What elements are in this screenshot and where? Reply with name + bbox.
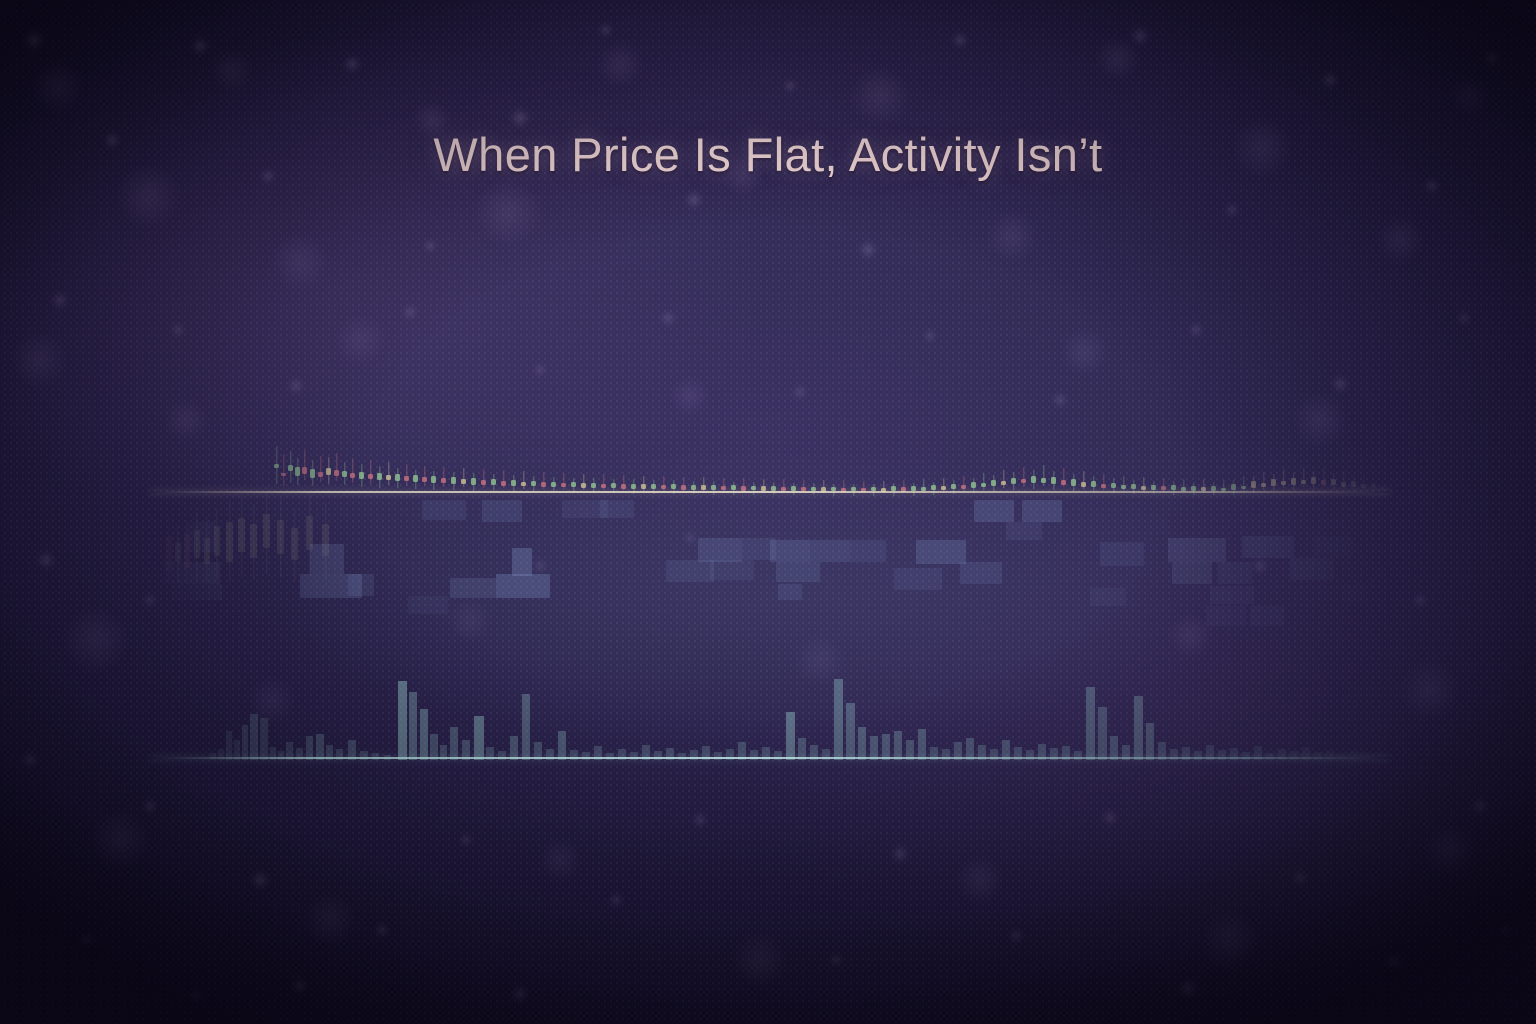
- volume-bar: [1074, 751, 1082, 760]
- candlestick: [801, 432, 806, 498]
- candle-wick: [336, 453, 337, 481]
- candle-body: [931, 485, 936, 490]
- page-title: When Price Is Flat, Activity Isn’t: [0, 127, 1536, 182]
- depth-block: [1206, 606, 1246, 626]
- slide-canvas: When Price Is Flat, Activity Isn’t: [0, 0, 1536, 1024]
- candle-wick: [1003, 470, 1004, 488]
- candlestick: [318, 432, 323, 498]
- depth-block: [974, 500, 1014, 522]
- candle-body: [1081, 482, 1086, 487]
- volume-bar: [558, 731, 566, 760]
- candlestick: [911, 432, 916, 498]
- candle-body: [601, 484, 606, 488]
- candlestick: [395, 432, 400, 498]
- candle-body: [1381, 485, 1386, 489]
- volume-bar: [226, 731, 232, 760]
- candlestick: [1121, 432, 1126, 498]
- candle-body: [1071, 479, 1076, 486]
- candle-body: [941, 486, 946, 490]
- depth-block: [1250, 606, 1284, 626]
- depth-block: [960, 562, 1002, 584]
- candlestick: [1021, 432, 1026, 498]
- volume-bar: [654, 751, 662, 760]
- depth-block: [770, 540, 810, 562]
- candlestick: [881, 432, 886, 498]
- candlestick: [491, 432, 496, 498]
- volume-bar: [1026, 750, 1034, 760]
- candle-body: [501, 481, 506, 486]
- depth-block: [482, 500, 522, 522]
- candle-body: [1241, 486, 1246, 489]
- candlestick: [731, 432, 736, 498]
- candle-body: [691, 485, 696, 490]
- candlestick: [841, 432, 846, 498]
- candlestick: [1011, 432, 1016, 498]
- candlestick: [326, 432, 331, 498]
- candlestick: [1101, 432, 1106, 498]
- depth-block: [1090, 588, 1126, 606]
- candle-body: [1281, 481, 1286, 485]
- candle-wick: [443, 467, 444, 487]
- volume-bar: [834, 679, 843, 760]
- candle-body: [991, 480, 996, 486]
- candle-body: [295, 467, 300, 476]
- candle-body: [1021, 479, 1026, 483]
- depth-block: [1210, 586, 1254, 604]
- candle-body: [350, 473, 355, 478]
- candle-body: [1261, 483, 1266, 487]
- candlestick: [581, 432, 586, 498]
- candlestick: [621, 432, 626, 498]
- candle-body: [671, 484, 676, 489]
- candle-body: [531, 481, 536, 486]
- volume-bar: [398, 681, 407, 760]
- volume-bar: [360, 751, 368, 760]
- candlestick: [481, 432, 486, 498]
- candle-body: [1131, 484, 1136, 489]
- candle-body: [1371, 483, 1376, 488]
- candlestick: [461, 432, 466, 498]
- candlestick: [1051, 432, 1056, 498]
- candlestick: [541, 432, 546, 498]
- candle-body: [1151, 485, 1156, 490]
- depth-block: [1100, 542, 1144, 566]
- candlestick: [961, 432, 966, 498]
- candlestick: [274, 432, 279, 498]
- candle-body: [1111, 483, 1116, 488]
- candle-body: [481, 480, 486, 485]
- candlestick: [422, 432, 427, 498]
- candlestick: [310, 432, 315, 498]
- candlestick: [941, 432, 946, 498]
- volume-bar: [750, 750, 758, 760]
- candlestick: [1231, 432, 1236, 498]
- volume-bar: [918, 729, 926, 760]
- depth-block: [170, 584, 222, 600]
- candlestick: [781, 432, 786, 498]
- candle-wick: [1263, 472, 1264, 490]
- candlestick: [1181, 432, 1186, 498]
- candlestick: [1331, 432, 1336, 498]
- candle-body: [651, 484, 656, 489]
- volume-bar: [774, 751, 782, 760]
- depth-block: [1172, 562, 1212, 584]
- candlestick: [1131, 432, 1136, 498]
- depth-block: [186, 522, 216, 552]
- candlestick: [451, 432, 456, 498]
- candlestick: [1381, 432, 1386, 498]
- candle-body: [641, 484, 646, 489]
- candlestick: [871, 432, 876, 498]
- candlestick: [1291, 432, 1296, 498]
- volume-bar: [894, 731, 902, 760]
- candlestick: [1041, 432, 1046, 498]
- candlestick: [281, 432, 286, 498]
- candle-body: [451, 477, 456, 484]
- candle-body: [1321, 480, 1326, 485]
- candle-body: [1051, 477, 1056, 484]
- candle-body: [511, 480, 516, 486]
- candle-body: [751, 486, 756, 490]
- candlestick: [501, 432, 506, 498]
- depth-block: [408, 596, 448, 614]
- volume-bar: [1218, 750, 1226, 760]
- candlestick: [1351, 432, 1356, 498]
- depth-block: [1006, 522, 1042, 540]
- candle-body: [413, 475, 418, 482]
- volume-bar-chart: [150, 650, 1390, 760]
- depth-block: [450, 578, 496, 598]
- price-baseline: [150, 491, 1390, 493]
- candle-body: [1271, 479, 1276, 486]
- candlestick: [1301, 432, 1306, 498]
- candle-body: [288, 465, 293, 471]
- volume-bar: [242, 725, 248, 760]
- volume-bar: [846, 703, 855, 760]
- candlestick: [771, 432, 776, 498]
- candle-body: [1041, 478, 1046, 483]
- candle-body: [1301, 480, 1306, 484]
- candlestick: [971, 432, 976, 498]
- candle-body: [1141, 486, 1146, 490]
- volume-bar: [250, 714, 258, 760]
- candlestick: [334, 432, 339, 498]
- depth-block: [776, 562, 820, 582]
- candle-body: [1161, 486, 1166, 490]
- candlestick: [561, 432, 566, 498]
- candlestick: [302, 432, 307, 498]
- depth-block: [894, 568, 942, 590]
- candlestick: [751, 432, 756, 498]
- depth-block: [1218, 562, 1252, 584]
- candle-body: [981, 483, 986, 487]
- candle-body: [951, 484, 956, 489]
- depth-block: [310, 544, 344, 574]
- candle-wick: [983, 473, 984, 490]
- candle-wick: [1303, 468, 1304, 487]
- candlestick: [591, 432, 596, 498]
- candlestick: [386, 432, 391, 498]
- candlestick: [521, 432, 526, 498]
- candle-body: [1341, 482, 1346, 487]
- volume-bar: [1326, 750, 1334, 760]
- depth-block: [496, 574, 550, 598]
- candle-wick: [370, 460, 371, 484]
- candle-body: [274, 464, 279, 468]
- candlestick: [721, 432, 726, 498]
- candlestick: [1171, 432, 1176, 498]
- candlestick: [1341, 432, 1346, 498]
- candle-body: [302, 467, 307, 474]
- candlestick: [921, 432, 926, 498]
- volume-bar: [1098, 707, 1107, 760]
- candle-body: [1361, 484, 1366, 488]
- candlestick: [1081, 432, 1086, 498]
- candlestick: [861, 432, 866, 498]
- candle-body: [395, 474, 400, 481]
- depth-block: [162, 562, 220, 584]
- candle-body: [422, 477, 427, 482]
- candle-body: [961, 485, 966, 489]
- candle-body: [711, 485, 716, 490]
- candlestick: [1361, 432, 1366, 498]
- depth-block: [810, 540, 850, 562]
- candle-body: [431, 476, 436, 483]
- candlestick: [1211, 432, 1216, 498]
- volume-bar: [420, 709, 428, 760]
- candlestick: [1281, 432, 1286, 498]
- candle-body: [611, 483, 616, 488]
- candle-body: [1061, 480, 1066, 485]
- volume-bar: [498, 751, 506, 760]
- candle-body: [661, 485, 666, 489]
- candle-body: [359, 472, 364, 479]
- candlestick: [404, 432, 409, 498]
- candle-wick: [1243, 476, 1244, 492]
- candle-body: [342, 471, 347, 477]
- volume-bar: [1146, 723, 1154, 760]
- depth-block: [1022, 500, 1062, 522]
- candlestick: [811, 432, 816, 498]
- price-candlestick-chart: [150, 432, 1390, 498]
- volume-bar: [260, 718, 268, 760]
- candlestick: [1151, 432, 1156, 498]
- candle-body: [1011, 478, 1016, 484]
- candlestick: [741, 432, 746, 498]
- volume-bar: [570, 750, 578, 760]
- candlestick: [761, 432, 766, 498]
- candlestick: [377, 432, 382, 498]
- candlestick: [368, 432, 373, 498]
- candlestick: [342, 432, 347, 498]
- candle-body: [281, 473, 286, 476]
- candlestick: [431, 432, 436, 498]
- candlestick: [1111, 432, 1116, 498]
- depth-block: [1342, 584, 1378, 602]
- candle-body: [561, 483, 566, 487]
- candle-wick: [388, 462, 389, 485]
- candle-body: [461, 479, 466, 484]
- candlestick: [1221, 432, 1226, 498]
- candle-body: [721, 486, 726, 490]
- depth-block: [512, 548, 532, 576]
- candle-body: [386, 475, 391, 480]
- candlestick: [551, 432, 556, 498]
- candlestick: [711, 432, 716, 498]
- candle-wick: [483, 469, 484, 488]
- candlestick: [1261, 432, 1266, 498]
- candle-wick: [1283, 469, 1284, 488]
- candle-body: [551, 482, 556, 487]
- depth-block: [348, 574, 374, 596]
- candlestick: [413, 432, 418, 498]
- candlestick: [1191, 432, 1196, 498]
- depth-block: [1314, 536, 1354, 556]
- candlestick: [1161, 432, 1166, 498]
- volume-bar: [1134, 696, 1143, 760]
- volume-bar: [1086, 687, 1095, 760]
- candlestick: [641, 432, 646, 498]
- candle-wick: [320, 456, 321, 482]
- volume-bar: [474, 716, 484, 760]
- candle-wick: [304, 450, 305, 480]
- candlestick: [691, 432, 696, 498]
- volume-bar: [1290, 751, 1298, 760]
- candlestick: [1091, 432, 1096, 498]
- volume-bar: [409, 692, 417, 760]
- candle-body: [591, 483, 596, 488]
- depth-block: [666, 560, 714, 582]
- candlestick: [1321, 432, 1326, 498]
- candle-body: [1001, 481, 1006, 485]
- candle-wick: [283, 454, 284, 486]
- volume-baseline: [150, 757, 1390, 759]
- candlestick: [511, 432, 516, 498]
- candlestick: [821, 432, 826, 498]
- candlestick: [359, 432, 364, 498]
- candle-body: [1091, 481, 1096, 487]
- candlestick: [1201, 432, 1206, 498]
- candlestick: [661, 432, 666, 498]
- candle-body: [681, 485, 686, 490]
- candlestick: [1001, 432, 1006, 498]
- candle-body: [1031, 476, 1036, 483]
- candle-body: [318, 472, 323, 477]
- candle-body: [368, 474, 373, 479]
- candle-body: [334, 470, 339, 476]
- depth-block: [1168, 538, 1226, 562]
- candlestick: [288, 432, 293, 498]
- candlestick: [1241, 432, 1246, 498]
- candle-body: [581, 483, 586, 488]
- candlestick: [791, 432, 796, 498]
- candle-body: [441, 478, 446, 483]
- depth-block: [600, 500, 634, 518]
- volume-bar: [450, 727, 458, 760]
- candle-wick: [463, 468, 464, 487]
- candlestick: [981, 432, 986, 498]
- candlestick: [901, 432, 906, 498]
- candlestick: [991, 432, 996, 498]
- candlestick: [651, 432, 656, 498]
- candle-body: [971, 482, 976, 488]
- candlestick: [441, 432, 446, 498]
- candle-body: [1171, 485, 1176, 490]
- candle-body: [1331, 479, 1336, 485]
- volume-bar: [522, 694, 530, 760]
- candle-body: [1121, 485, 1126, 489]
- candle-body: [1251, 481, 1256, 488]
- depth-block: [1290, 558, 1334, 580]
- candle-body: [521, 482, 526, 486]
- candle-body: [310, 469, 315, 478]
- candlestick: [531, 432, 536, 498]
- candlestick: [601, 432, 606, 498]
- depth-block: [710, 560, 754, 580]
- depth-block: [850, 540, 886, 562]
- candle-body: [1231, 484, 1236, 490]
- candlestick: [611, 432, 616, 498]
- candlestick: [1031, 432, 1036, 498]
- candlestick: [1071, 432, 1076, 498]
- candlestick: [350, 432, 355, 498]
- candle-body: [1101, 484, 1106, 488]
- candlestick: [295, 432, 300, 498]
- candlestick: [1311, 432, 1316, 498]
- candlestick: [1371, 432, 1376, 498]
- candle-wick: [352, 458, 353, 483]
- candle-body: [377, 473, 382, 480]
- candle-body: [404, 476, 409, 481]
- depth-block: [778, 584, 802, 600]
- candlestick: [631, 432, 636, 498]
- candlestick: [1141, 432, 1146, 498]
- volume-bar: [1194, 751, 1202, 760]
- depth-block: [698, 538, 742, 562]
- candle-body: [491, 479, 496, 485]
- candle-wick: [406, 464, 407, 486]
- candle-body: [326, 468, 331, 475]
- candle-body: [541, 482, 546, 487]
- candlestick: [891, 432, 896, 498]
- candle-wick: [1023, 467, 1024, 487]
- candlestick: [471, 432, 476, 498]
- candlestick: [851, 432, 856, 498]
- depth-block: [1242, 536, 1294, 558]
- candle-body: [471, 478, 476, 485]
- candle-body: [621, 484, 626, 489]
- candle-body: [1351, 481, 1356, 487]
- depth-block: [422, 500, 466, 520]
- candlestick: [1061, 432, 1066, 498]
- volume-bar: [858, 727, 866, 760]
- volume-bar: [690, 750, 698, 760]
- candlestick: [951, 432, 956, 498]
- candlestick: [681, 432, 686, 498]
- candlestick: [571, 432, 576, 498]
- candle-body: [701, 485, 706, 490]
- candle-body: [571, 482, 576, 487]
- volume-bar: [786, 712, 795, 760]
- candlestick: [1251, 432, 1256, 498]
- candlestick: [931, 432, 936, 498]
- depth-block: [916, 540, 966, 564]
- candle-body: [631, 484, 636, 489]
- volume-bar: [278, 751, 284, 760]
- candlestick: [1271, 432, 1276, 498]
- candle-body: [731, 485, 736, 490]
- candlestick: [701, 432, 706, 498]
